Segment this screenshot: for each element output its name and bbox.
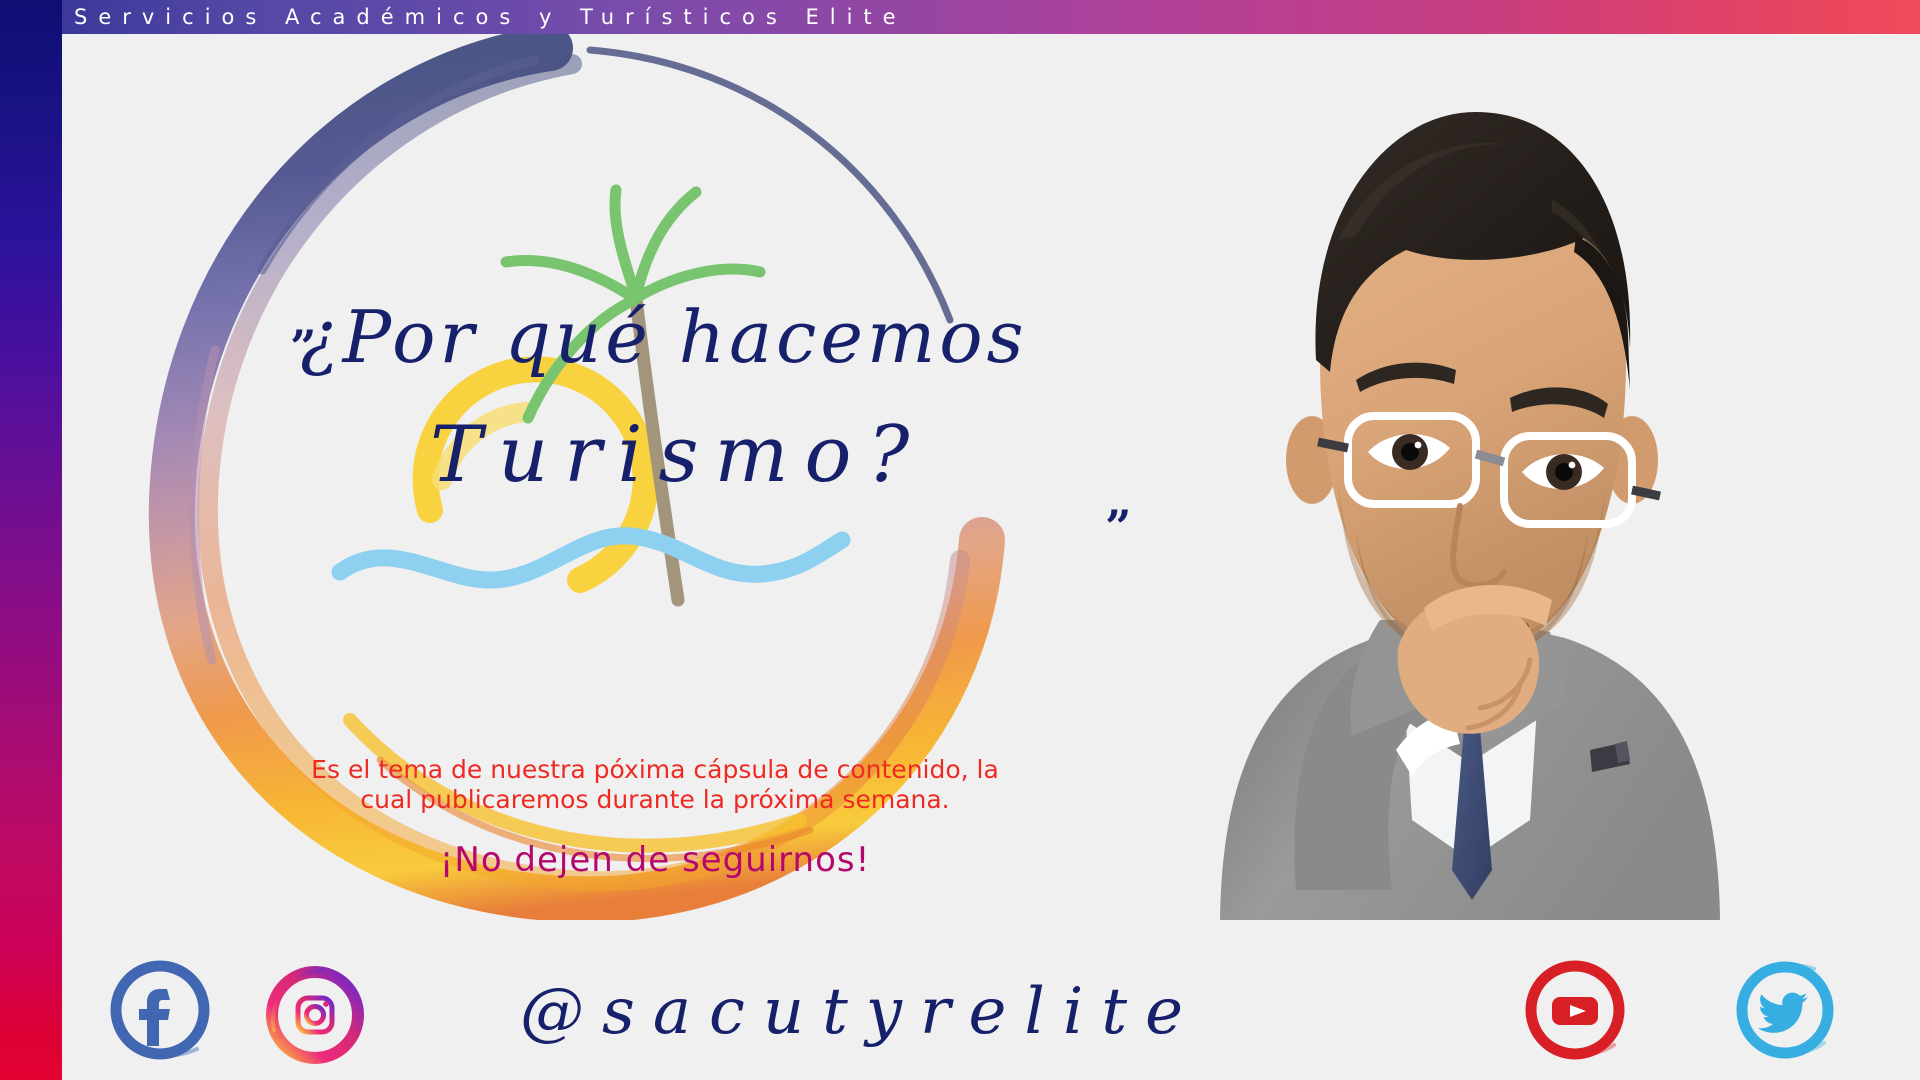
social-handle: @sacutyrelite: [520, 975, 1201, 1049]
twitter-icon[interactable]: [1730, 955, 1840, 1065]
tourism-logo: [330, 180, 890, 620]
headline-line-1: ¿Por qué hacemos: [300, 295, 1028, 379]
facebook-icon[interactable]: [105, 955, 215, 1065]
subtitle-text: Es el tema de nuestra póxima cápsula de …: [305, 755, 1005, 815]
sidebar-slogan-band: ¡Por un turismo geuinamente humano!: [0, 0, 62, 1080]
poster-canvas: ” ¿Por qué hacemos Turismo? ” Es el tema…: [0, 0, 1920, 1080]
avatar-illustration: [1160, 60, 1780, 920]
quote-close-mark: ”: [1105, 500, 1131, 554]
youtube-icon[interactable]: [1520, 955, 1630, 1065]
banner-title: Servicios Académicos y Turísticos Elite: [74, 0, 907, 34]
top-banner: Servicios Académicos y Turísticos Elite: [0, 0, 1920, 34]
headline-line-2: Turismo?: [430, 410, 925, 500]
call-to-action-text: ¡No dejen de seguirnos!: [385, 840, 925, 880]
instagram-icon[interactable]: [260, 960, 370, 1070]
